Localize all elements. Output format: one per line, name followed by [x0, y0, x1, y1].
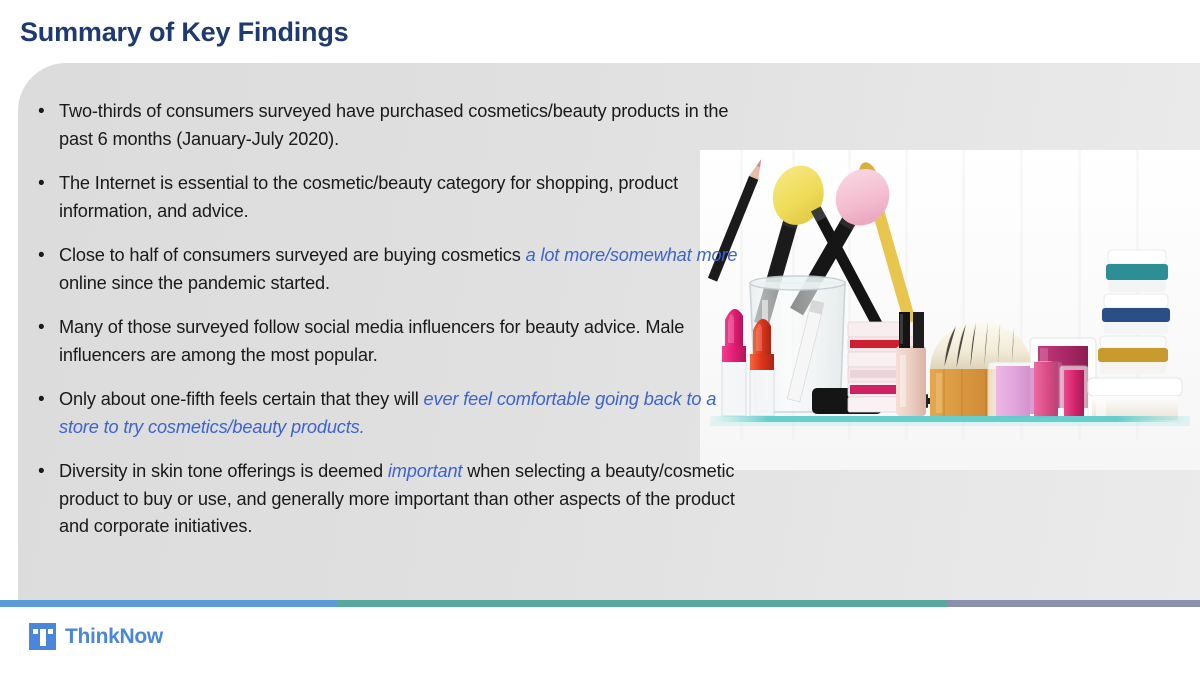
bullet-icon: • — [38, 242, 45, 269]
thinknow-logo-icon — [29, 623, 56, 650]
list-item-text: Two-thirds of consumers surveyed have pu… — [59, 101, 728, 149]
list-item: • Only about one-fifth feels certain tha… — [30, 386, 742, 441]
list-item-text: Many of those surveyed follow social med… — [59, 317, 684, 365]
list-item: • Two-thirds of consumers surveyed have … — [30, 98, 742, 153]
list-item: • Diversity in skin tone offerings is de… — [30, 458, 742, 541]
bullet-icon: • — [38, 170, 45, 197]
bullet-icon: • — [38, 458, 45, 485]
text-segment: Close to half of consumers surveyed are … — [59, 245, 526, 265]
bullet-icon: • — [38, 386, 45, 413]
cosmetics-illustration — [700, 150, 1200, 470]
text-segment: The Internet is essential to the cosmeti… — [59, 173, 678, 221]
accent-segment-teal — [338, 600, 948, 607]
emphasis-text: a lot more/somewhat more — [526, 245, 738, 265]
key-findings-list: • Two-thirds of consumers surveyed have … — [30, 98, 742, 541]
accent-segment-blue — [0, 600, 338, 607]
text-segment: Only about one-fifth feels certain that … — [59, 389, 424, 409]
text-segment: Diversity in skin tone offerings is deem… — [59, 461, 388, 481]
text-segment: online since the pandemic started. — [59, 273, 330, 293]
text-segment: Many of those surveyed follow social med… — [59, 317, 684, 365]
bullet-icon: • — [38, 98, 45, 125]
list-item-text: The Internet is essential to the cosmeti… — [59, 173, 678, 221]
thinknow-logo: ThinkNow — [29, 623, 163, 650]
slide: Summary of Key Findings — [0, 0, 1200, 675]
list-item: • The Internet is essential to the cosme… — [30, 170, 742, 225]
cosmetics-photo — [700, 150, 1200, 470]
footer-accent-bar — [0, 600, 1200, 607]
list-item: • Many of those surveyed follow social m… — [30, 314, 742, 369]
list-item-text: Close to half of consumers surveyed are … — [59, 245, 737, 293]
emphasis-text: important — [388, 461, 462, 481]
bullet-icon: • — [38, 314, 45, 341]
text-segment: Two-thirds of consumers surveyed have pu… — [59, 101, 728, 149]
logo-wordmark: ThinkNow — [65, 625, 163, 649]
footer: ThinkNow — [0, 607, 1200, 675]
list-item-text: Only about one-fifth feels certain that … — [59, 389, 716, 437]
list-item-text: Diversity in skin tone offerings is deem… — [59, 461, 735, 536]
accent-segment-gray — [948, 600, 1200, 607]
page-title: Summary of Key Findings — [20, 17, 348, 48]
list-item: • Close to half of consumers surveyed ar… — [30, 242, 742, 297]
cosmetics-photo-image — [700, 150, 1200, 470]
